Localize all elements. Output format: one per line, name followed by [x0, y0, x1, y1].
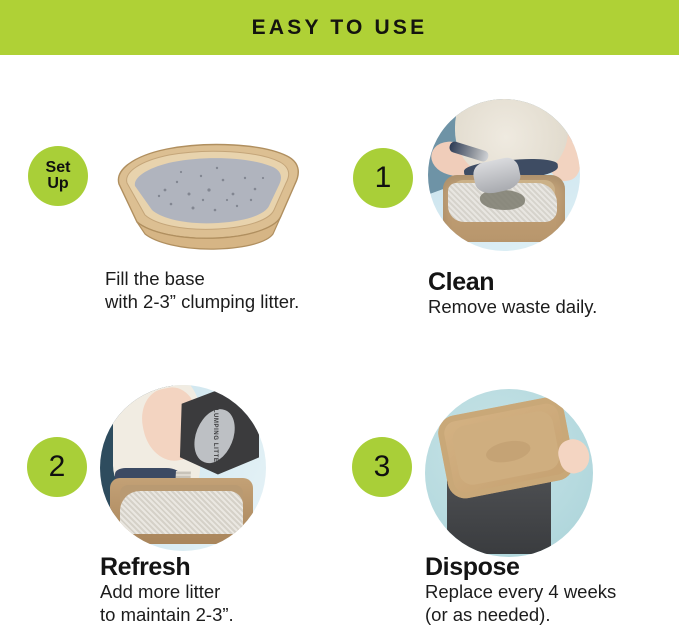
step-badge-3: 3 — [352, 437, 412, 497]
pouring-litter-photo: CLUMPING LITTER — [100, 385, 266, 551]
badge-number-1: 1 — [375, 163, 392, 193]
step-badge-1: 1 — [353, 148, 413, 208]
caption-body-3: Replace every 4 weeks (or as needed). — [425, 581, 670, 627]
caption-setup: Fill the base with 2-3” clumping litter. — [105, 268, 355, 314]
caption-body-2: Add more litter to maintain 2-3”. — [100, 581, 340, 627]
caption-body-1: Remove waste daily. — [428, 296, 668, 319]
step-badge-2: 2 — [27, 437, 87, 497]
page-title: EASY TO USE — [252, 16, 428, 40]
litter-box-illustration — [105, 132, 303, 250]
tray-emboss-logo — [484, 437, 532, 466]
badge-label-line2: Up — [47, 176, 68, 192]
badge-number-3: 3 — [374, 452, 391, 482]
caption-heading-2: Refresh — [100, 553, 340, 581]
caption-heading-3: Dispose — [425, 553, 670, 581]
carton-label-text: CLUMPING LITTER — [211, 405, 219, 469]
litter-surface — [120, 491, 243, 534]
scooping-litter-photo — [428, 99, 580, 251]
header-banner: EASY TO USE — [0, 0, 679, 55]
caption-1: Clean Remove waste daily. — [428, 268, 668, 319]
litter-tray-interior — [450, 408, 562, 487]
litter-box-svg — [105, 132, 303, 250]
dispose-tray-photo — [425, 389, 593, 557]
caption-2: Refresh Add more litter to maintain 2-3”… — [100, 553, 340, 627]
badge-number-2: 2 — [49, 452, 66, 482]
step-badge-setup: Set Up — [28, 146, 88, 206]
caption-heading-1: Clean — [428, 268, 668, 296]
caption-3: Dispose Replace every 4 weeks (or as nee… — [425, 553, 670, 627]
badge-label-line1: Set — [46, 160, 71, 176]
caption-body-setup: Fill the base with 2-3” clumping litter. — [105, 268, 355, 314]
